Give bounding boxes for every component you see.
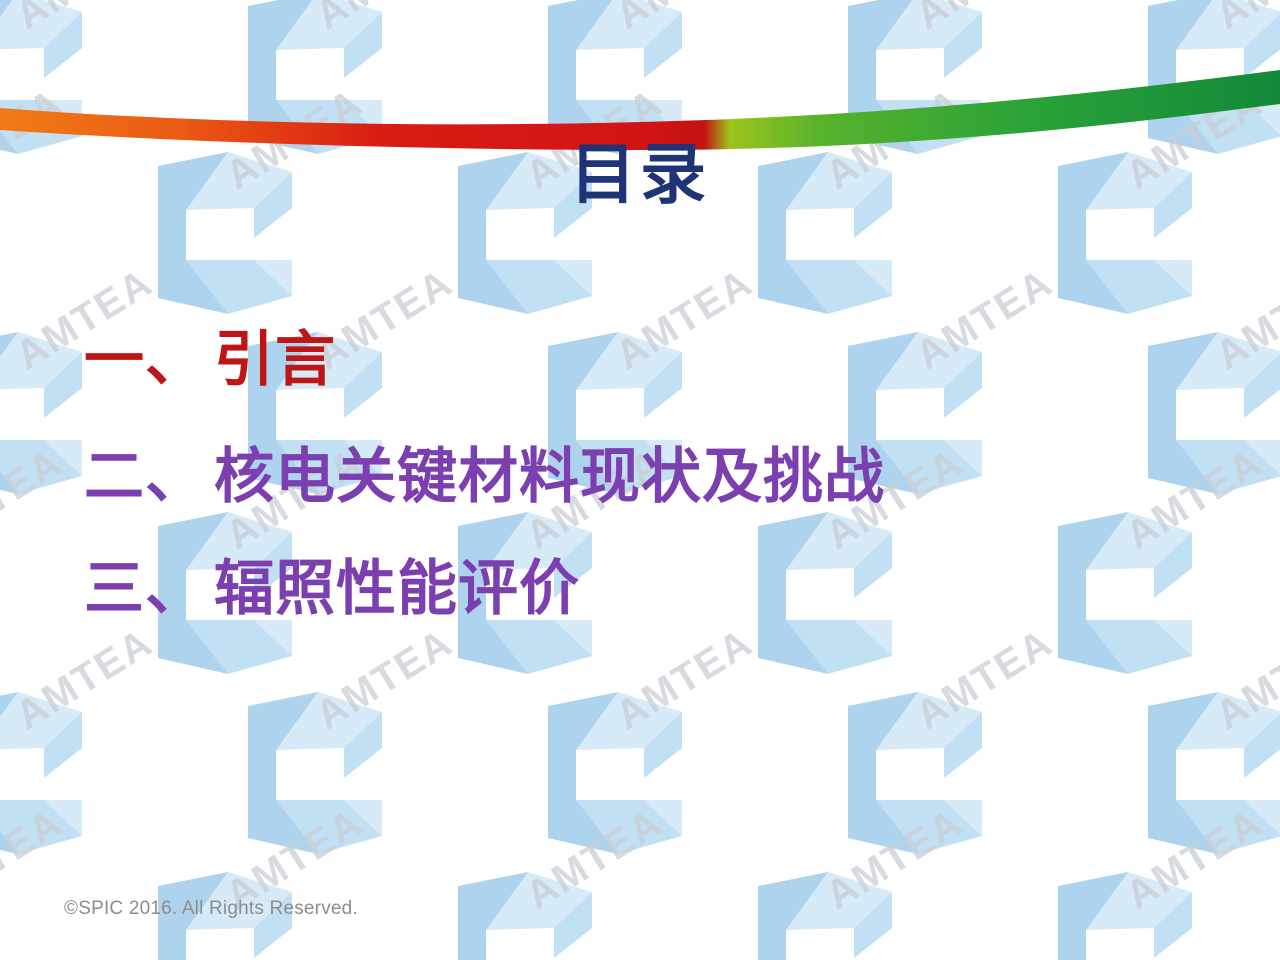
toc-item-number: 一、	[84, 330, 206, 390]
toc-item-label: 核电关键材料现状及挑战	[214, 447, 885, 507]
presentation-slide: AMTEAAMTEAAMTEAAMTEAAMTEAAMTEAAMTEAAMTEA…	[0, 0, 1280, 960]
toc-item-label: 引言	[214, 330, 336, 390]
toc-item-3[interactable]: 三、辐照性能评价	[84, 559, 1204, 619]
toc-item-2[interactable]: 二、核电关键材料现状及挑战	[84, 447, 1204, 507]
toc-item-number: 三、	[84, 559, 206, 619]
slide-content: 目录 一、引言二、核电关键材料现状及挑战三、辐照性能评价 ©SPIC 2016.…	[0, 0, 1280, 960]
toc-item-number: 二、	[84, 447, 206, 507]
toc-item-label: 辐照性能评价	[214, 559, 580, 619]
toc-item-1[interactable]: 一、引言	[84, 330, 1204, 390]
page-title: 目录	[0, 142, 1280, 208]
table-of-contents-list: 一、引言二、核电关键材料现状及挑战三、辐照性能评价	[84, 330, 1204, 619]
copyright-footer: ©SPIC 2016. All Rights Reserved.	[64, 898, 358, 920]
